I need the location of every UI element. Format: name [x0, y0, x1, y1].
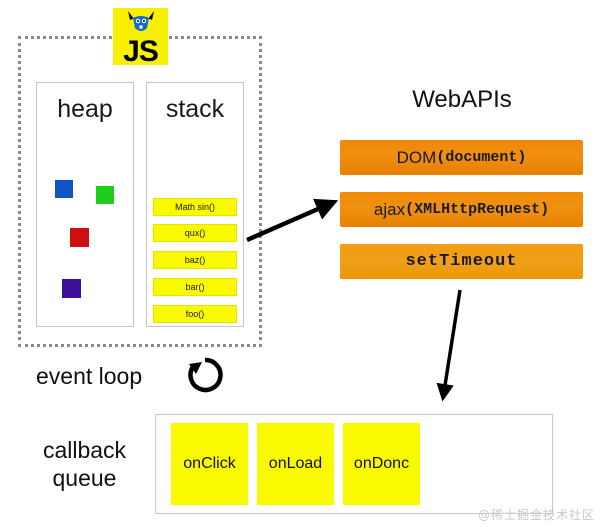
callback-queue-item-0[interactable]: onClick: [171, 423, 248, 505]
stack-frame-0: Math sin(): [153, 198, 237, 216]
arrow-webapis-to-queue: [443, 290, 460, 398]
circular-arrow-icon: [185, 355, 225, 395]
webapi-settimeout-code: setTimeout: [405, 252, 517, 271]
webapi-dom-code: (document): [436, 149, 526, 166]
diagram-canvas: JS heap stack Math sin()qux()baz()bar()f…: [0, 0, 601, 527]
webapi-settimeout-box[interactable]: setTimeout: [340, 244, 583, 279]
stack-frame-1: qux(): [153, 224, 237, 242]
heap-title: heap: [37, 95, 133, 124]
js-logo-text: JS: [113, 37, 168, 67]
webapis-title: WebAPIs: [340, 86, 584, 114]
callback-queue-label-line1: callback: [43, 437, 126, 463]
webapi-ajax-box[interactable]: ajax (XMLHttpRequest): [340, 192, 583, 227]
callback-queue-item-2[interactable]: onDonc: [343, 423, 420, 505]
callback-queue-item-1[interactable]: onLoad: [257, 423, 334, 505]
heap-object-blue: [55, 180, 73, 198]
heap-panel: heap: [36, 82, 134, 327]
javascript-logo: JS: [113, 8, 168, 65]
stack-title: stack: [147, 95, 243, 124]
stack-frame-3: bar(): [153, 278, 237, 296]
webapi-ajax-code: (XMLHttpRequest): [405, 201, 549, 218]
watermark: @稀土掘金技术社区: [478, 506, 595, 523]
webapi-dom-box[interactable]: DOM (document): [340, 140, 583, 175]
callback-queue-label: callback queue: [22, 436, 147, 492]
webapi-ajax-prefix: ajax: [374, 200, 405, 220]
js-bat-mascot-icon: [126, 10, 156, 36]
heap-object-green: [96, 186, 114, 204]
callback-queue-label-line2: queue: [53, 465, 117, 491]
heap-object-purple: [62, 279, 81, 298]
stack-frame-2: baz(): [153, 251, 237, 269]
stack-frame-4: foo(): [153, 305, 237, 323]
callback-queue-box: onClickonLoadonDonc: [155, 414, 553, 514]
event-loop-label: event loop: [36, 363, 142, 390]
heap-object-red: [70, 228, 89, 247]
webapi-dom-prefix: DOM: [397, 148, 437, 168]
